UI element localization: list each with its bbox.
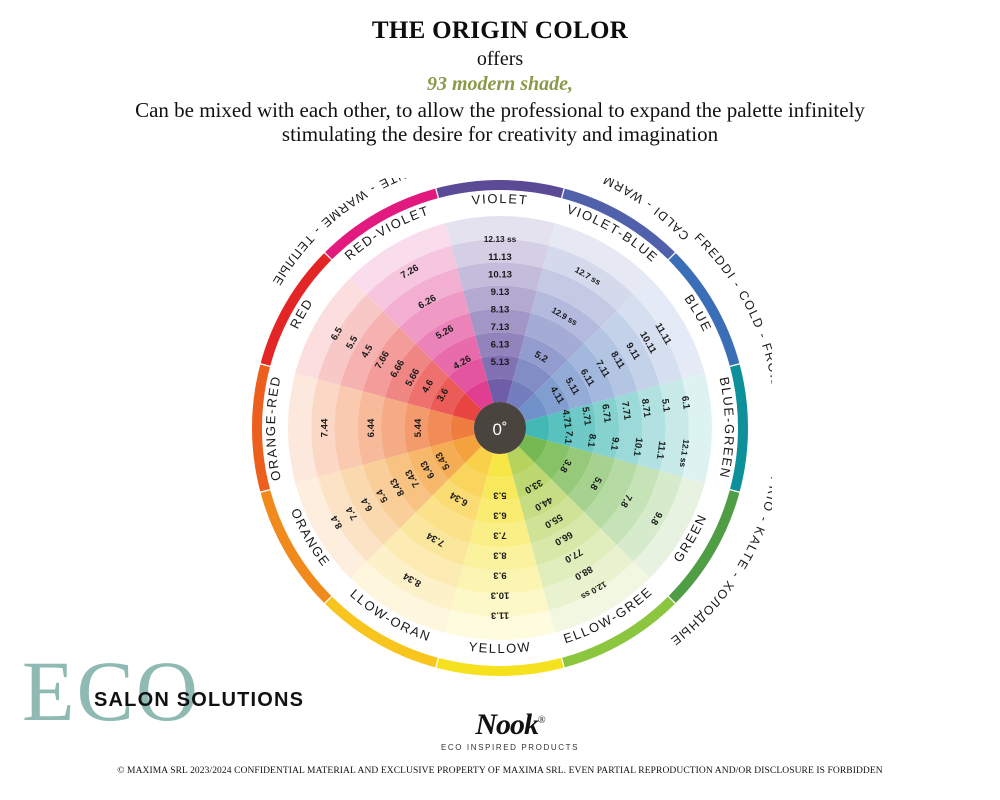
shade-code: 11.3: [491, 609, 509, 620]
description-line-1: Can be mixed with each other, to allow t…: [0, 99, 1000, 123]
sector-band: [381, 397, 408, 459]
shade-code: 6.3: [493, 509, 506, 520]
shade-code: 5.13: [491, 357, 510, 368]
rim-arc-yellow: [436, 658, 563, 676]
eco-logo-subtitle: SALON SOLUTIONS: [94, 689, 304, 712]
copyright-notice: © MAXIMA SRL 2023/2024 CONFIDENTIAL MATE…: [0, 766, 1000, 776]
shade-code: 5.3: [493, 489, 506, 500]
sector-label-yellow: YELLOW: [468, 639, 532, 656]
color-wheel: 5.136.137.138.139.1310.1311.1312.13 ss5.…: [228, 178, 772, 678]
shade-code: 6.13: [491, 339, 510, 350]
sector-label-orange-red: ORANGE-RED: [263, 374, 284, 482]
nook-wordmark: Nook®: [475, 706, 544, 740]
description-line-2: stimulating the desire for creativity an…: [0, 123, 1000, 147]
shade-code: 5.1: [659, 398, 672, 413]
header-block: THE ORIGIN COLOR offers 93 modern shade,…: [0, 0, 1000, 146]
shade-code: 9.3: [493, 569, 506, 580]
shade-code: 8.3: [493, 549, 506, 560]
sector-band: [428, 409, 453, 447]
shade-count-label: 93 modern shade,: [0, 73, 1000, 95]
shade-code: 8.1: [585, 433, 598, 448]
shade-code: 12.13 ss: [484, 234, 517, 244]
shade-code: 11.13: [488, 252, 511, 263]
shade-code: 7.13: [491, 322, 510, 333]
sector-label-violet: VIOLET: [471, 191, 529, 208]
center-label: 0˚: [492, 420, 507, 439]
shade-code: 6.1: [679, 395, 692, 410]
nook-tagline: ECO INSPIRED PRODUCTS: [430, 743, 590, 752]
shade-code: 10.3: [491, 589, 510, 600]
shade-code: 9.1: [608, 436, 621, 451]
subtitle-offers: offers: [0, 48, 1000, 70]
nook-wordmark-text: Nook: [475, 708, 538, 741]
shade-code: 7.1: [562, 430, 575, 445]
page-title: THE ORIGIN COLOR: [0, 18, 1000, 44]
shade-code: 5.44: [413, 418, 424, 437]
shade-code: 10.13: [488, 269, 512, 280]
shade-code: 6.44: [366, 418, 377, 437]
shade-code: 8.13: [491, 304, 510, 315]
shade-code: 7.3: [493, 529, 506, 540]
shade-code: 9.13: [491, 287, 510, 298]
wheel-center[interactable]: 0˚: [474, 402, 526, 454]
sector-label-blue-green: BLUE-GREEN: [717, 376, 738, 481]
eco-logo: ECO SALON SOLUTIONS: [22, 648, 322, 718]
color-wheel-svg: 5.136.137.138.139.1310.1311.1312.13 ss5.…: [228, 178, 772, 678]
registered-trademark-icon: ®: [538, 715, 545, 726]
nook-logo: Nook® ECO INSPIRED PRODUCTS: [430, 706, 590, 752]
shade-code: 7.44: [320, 418, 331, 437]
